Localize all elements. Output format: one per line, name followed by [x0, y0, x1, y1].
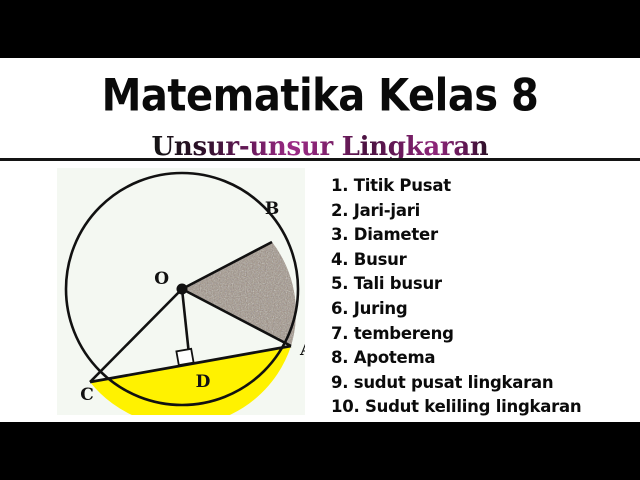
- circle-diagram: O B A C D: [57, 168, 305, 415]
- list-item: 1. Titik Pusat: [331, 174, 631, 199]
- list-item: 9. sudut pusat lingkaran: [331, 371, 631, 396]
- list-item: 2. Jari-jari: [331, 199, 631, 224]
- label-a: A: [299, 340, 305, 360]
- label-o: O: [154, 269, 169, 289]
- list-item: 8. Apotema: [331, 346, 631, 371]
- subtitle-container: Unsur-unsur Lingkaran: [0, 132, 640, 162]
- slide-root: Matematika Kelas 8 Unsur-unsur Lingkaran: [0, 0, 640, 480]
- letterbox-bar-top: [0, 0, 640, 58]
- list-item: 7. tembereng: [331, 322, 631, 347]
- slide-canvas: Matematika Kelas 8 Unsur-unsur Lingkaran: [0, 58, 640, 422]
- right-angle-marker: [176, 349, 193, 365]
- circle-diagram-svg: O B A C D: [57, 168, 305, 415]
- label-b: B: [265, 199, 279, 219]
- list-item: 10. Sudut keliling lingkaran: [331, 395, 631, 420]
- list-item: 4. Busur: [331, 248, 631, 273]
- center-point-dot: [177, 284, 188, 295]
- letterbox-bar-bottom: [0, 422, 640, 480]
- list-item: 5. Tali busur: [331, 272, 631, 297]
- page-title: Matematika Kelas 8: [0, 70, 640, 122]
- label-d: D: [196, 372, 211, 392]
- label-c: C: [80, 385, 94, 405]
- elements-list: 1. Titik Pusat 2. Jari-jari 3. Diameter …: [331, 174, 631, 420]
- list-item: 3. Diameter: [331, 223, 631, 248]
- list-item: 6. Juring: [331, 297, 631, 322]
- subtitle-underline: [0, 158, 640, 161]
